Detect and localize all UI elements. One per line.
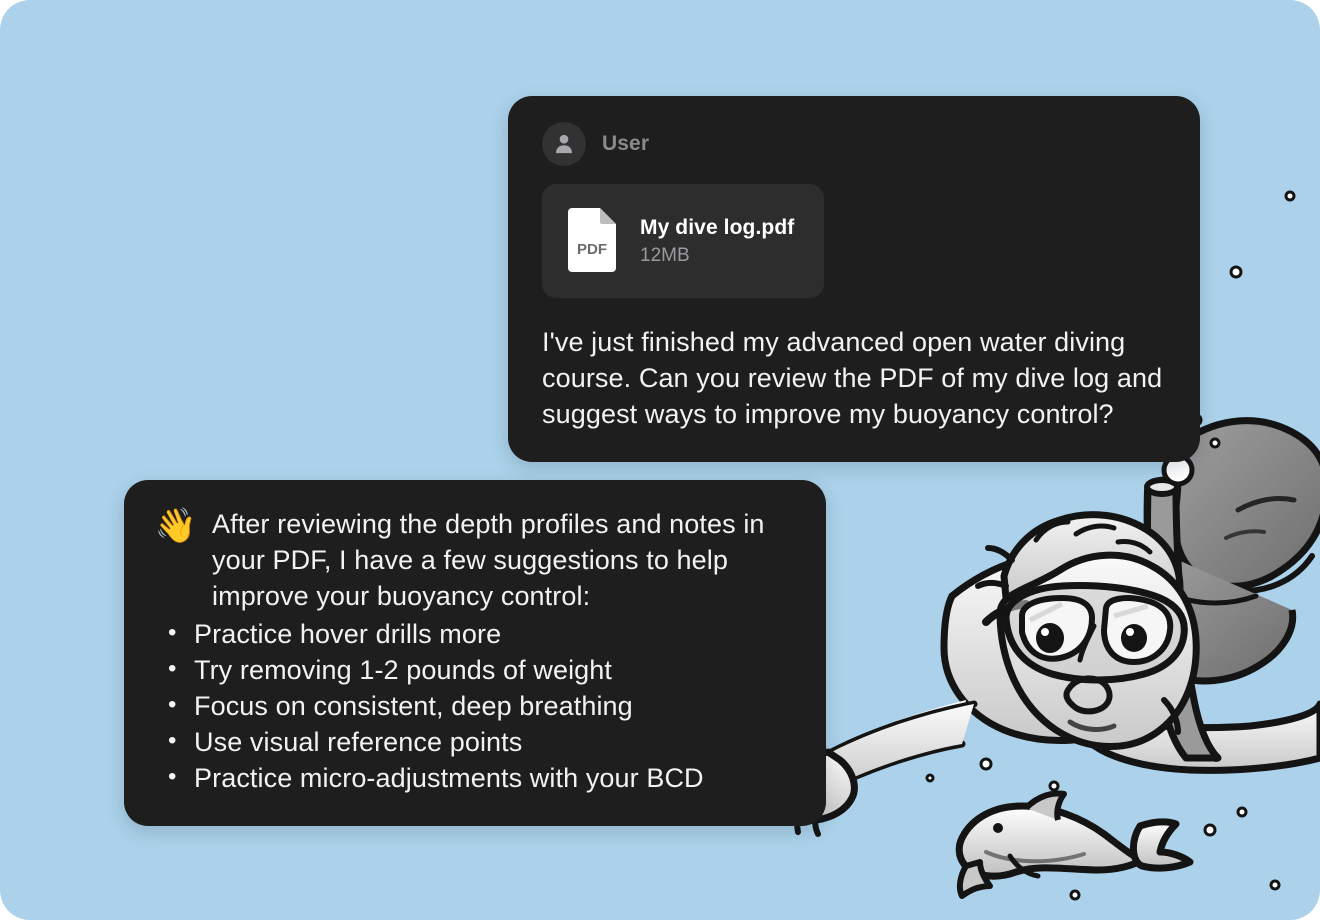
chat-scene: User PDF My dive log.pdf 12MB I've just … <box>0 0 1320 920</box>
assistant-intro-row: 👋 After reviewing the depth profiles and… <box>154 506 796 614</box>
swimmer-forearm-right <box>1092 704 1320 770</box>
list-item: Try removing 1-2 pounds of weight <box>194 652 796 688</box>
list-item: Use visual reference points <box>194 724 796 760</box>
fish <box>959 794 1190 896</box>
user-message-text: I've just finished my advanced open wate… <box>542 324 1166 432</box>
assistant-message-bubble: 👋 After reviewing the depth profiles and… <box>124 480 826 826</box>
sender-name: User <box>602 132 649 156</box>
list-item: Practice micro-adjustments with your BCD <box>194 760 796 796</box>
list-item: Practice hover drills more <box>194 616 796 652</box>
snorkel-tube <box>1147 480 1218 758</box>
waving-hand-emoji: 👋 <box>154 506 198 546</box>
user-message-header: User <box>542 122 1166 166</box>
person-icon <box>551 131 577 157</box>
swimmer-torso <box>944 552 1189 740</box>
user-message-bubble: User PDF My dive log.pdf 12MB I've just … <box>508 96 1200 462</box>
attachment-meta: My dive log.pdf 12MB <box>640 216 794 267</box>
attachment-card[interactable]: PDF My dive log.pdf 12MB <box>542 184 824 298</box>
list-item: Focus on consistent, deep breathing <box>194 688 796 724</box>
swimmer-head <box>978 515 1196 747</box>
attachment-filesize: 12MB <box>640 245 794 267</box>
suggestion-list: Practice hover drills more Try removing … <box>154 616 796 796</box>
attachment-filename: My dive log.pdf <box>640 216 794 240</box>
pdf-icon-label: PDF <box>577 241 607 258</box>
pdf-file-icon: PDF <box>564 206 618 276</box>
avatar <box>542 122 586 166</box>
assistant-intro-text: After reviewing the depth profiles and n… <box>212 506 796 614</box>
